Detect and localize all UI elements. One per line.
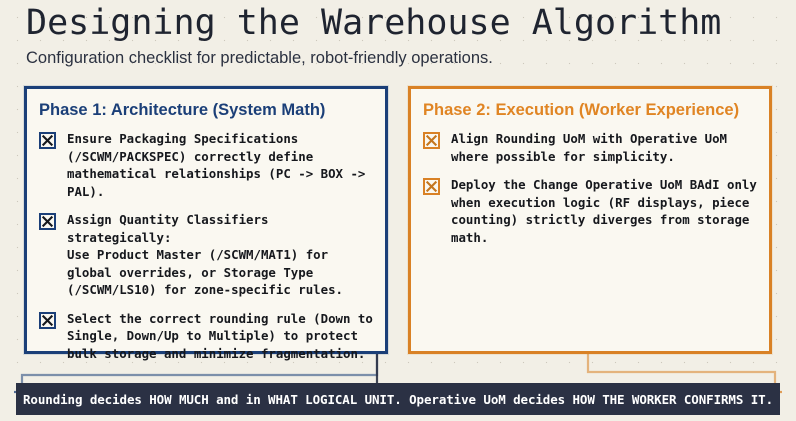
checklist-item[interactable]: Assign Quantity Classifiers strategicall… (39, 211, 375, 299)
page-subtitle: Configuration checklist for predictable,… (26, 47, 766, 69)
checklist-item-text: Assign Quantity Classifiers strategicall… (67, 211, 375, 299)
checklist-item-text: Ensure Packaging Specifications (/SCWM/P… (67, 130, 375, 200)
page-header: Designing the Warehouse Algorithm Config… (26, 2, 766, 69)
checklist-item-text: Deploy the Change Operative UoM BAdI onl… (451, 176, 757, 246)
checklist-item[interactable]: Deploy the Change Operative UoM BAdI onl… (423, 176, 759, 246)
checkbox-x-icon[interactable] (39, 132, 56, 149)
checkbox-x-icon[interactable] (423, 178, 440, 195)
summary-banner: Rounding decides HOW MUCH and in WHAT LO… (16, 383, 780, 415)
checklist-item-text: Align Rounding UoM with Operative UoM wh… (451, 130, 727, 165)
panel-phase-1-checklist: Ensure Packaging Specifications (/SCWM/P… (27, 120, 385, 362)
panel-phase-1: Phase 1: Architecture (System Math) Ensu… (24, 86, 388, 354)
checklist-item-text: Select the correct rounding rule (Down t… (67, 310, 373, 363)
checklist-item[interactable]: Ensure Packaging Specifications (/SCWM/P… (39, 130, 375, 200)
checkbox-x-icon[interactable] (39, 213, 56, 230)
checkbox-x-icon[interactable] (39, 312, 56, 329)
panel-phase-2: Phase 2: Execution (Worker Experience) A… (408, 86, 772, 354)
checklist-item[interactable]: Select the correct rounding rule (Down t… (39, 310, 375, 363)
checkbox-x-icon[interactable] (423, 132, 440, 149)
panel-phase-2-title: Phase 2: Execution (Worker Experience) (411, 89, 769, 120)
panel-phase-2-checklist: Align Rounding UoM with Operative UoM wh… (411, 120, 769, 246)
summary-banner-text: Rounding decides HOW MUCH and in WHAT LO… (23, 392, 773, 407)
panel-phase-1-title: Phase 1: Architecture (System Math) (27, 89, 385, 120)
checklist-item[interactable]: Align Rounding UoM with Operative UoM wh… (423, 130, 759, 165)
page-title: Designing the Warehouse Algorithm (26, 2, 766, 44)
